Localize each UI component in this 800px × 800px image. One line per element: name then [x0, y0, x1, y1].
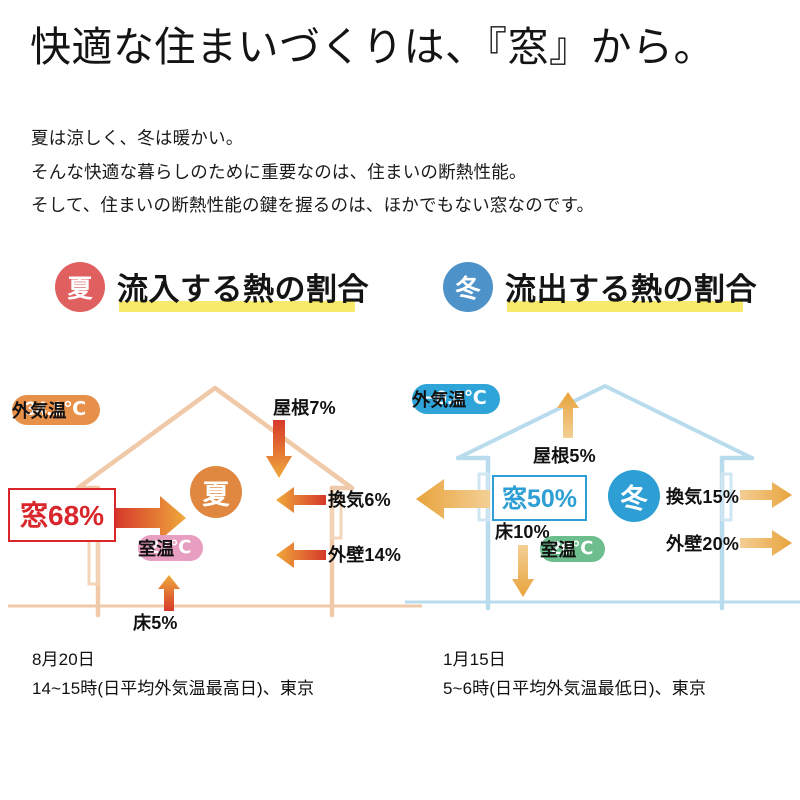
season-badge-winter: 冬 [443, 262, 493, 312]
section-header-winter: 冬 流出する熱の割合 [443, 262, 757, 312]
arrow-outer-wall-summer [276, 542, 326, 568]
section-header-summer: 夏 流入する熱の割合 [55, 262, 369, 312]
season-mark-winter: 冬 [608, 470, 660, 522]
indoor-temp-label-winter: 室温 [540, 536, 576, 562]
arrow-floor-summer [158, 575, 180, 611]
intro-line-1: 夏は涼しく、冬は暖かい。 [31, 122, 594, 156]
key-value-window-winter: 窓50% [492, 475, 587, 521]
label-ventilation-winter: 換気15% [666, 483, 739, 509]
caption-winter: 1月15日 5~6時(日平均外気温最低日)、東京 [443, 645, 706, 703]
season-mark-summer: 夏 [190, 466, 242, 518]
intro-line-3: そして、住まいの断熱性能の鍵を握るのは、ほかでもない窓なのです。 [31, 189, 594, 223]
diagram-summer: 外気温 34.1℃ 屋根7% 夏 窓68% 換気6 [0, 370, 410, 620]
infographic-page: 快適な住まいづくりは、『窓』から。 夏は涼しく、冬は暖かい。 そんな快適な暮らし… [0, 0, 800, 800]
label-outer-wall-winter: 外壁20% [666, 530, 739, 556]
outdoor-temp-label-summer: 外気温 [12, 397, 67, 423]
arrow-ventilation-winter [740, 482, 792, 508]
intro-line-2: そんな快適な暮らしのために重要なのは、住まいの断熱性能。 [31, 156, 594, 190]
section-title-summer: 流入する熱の割合 [117, 264, 369, 311]
label-roof-summer: 屋根7% [273, 394, 336, 420]
indoor-temp-summer: 室温 27℃ [138, 535, 203, 561]
label-ventilation-summer: 換気6% [328, 486, 391, 512]
caption-winter-date: 1月15日 [443, 645, 706, 674]
intro-paragraph: 夏は涼しく、冬は暖かい。 そんな快適な暮らしのために重要なのは、住まいの断熱性能… [31, 122, 594, 223]
caption-summer-detail: 14~15時(日平均外気温最高日)、東京 [32, 674, 314, 703]
caption-summer: 8月20日 14~15時(日平均外気温最高日)、東京 [32, 645, 314, 703]
arrow-floor-winter [512, 545, 534, 597]
season-badge-summer: 夏 [55, 262, 105, 312]
label-roof-winter: 屋根5% [533, 442, 596, 468]
arrow-outer-wall-winter [740, 530, 792, 556]
indoor-temp-winter: 室温 20℃ [540, 536, 605, 562]
indoor-temp-label-summer: 室温 [138, 535, 174, 561]
label-outer-wall-summer: 外壁14% [328, 541, 401, 567]
label-floor-summer: 床5% [133, 609, 178, 635]
arrow-window-summer [116, 496, 186, 540]
outdoor-temp-label-winter: 外気温 [412, 386, 467, 412]
arrow-roof-summer [266, 420, 292, 480]
diagram-winter: 外気温 −0.8℃ 屋根5% 窓50% 冬 換気1 [400, 370, 800, 620]
arrow-ventilation-summer [276, 487, 326, 513]
outdoor-temp-summer: 外気温 34.1℃ [12, 395, 100, 425]
key-value-window-summer: 窓68% [8, 488, 116, 542]
arrow-window-winter [416, 479, 490, 519]
caption-winter-detail: 5~6時(日平均外気温最低日)、東京 [443, 674, 706, 703]
arrow-roof-winter [557, 392, 579, 438]
caption-summer-date: 8月20日 [32, 645, 314, 674]
outdoor-temp-winter: 外気温 −0.8℃ [412, 384, 500, 414]
section-title-winter: 流出する熱の割合 [505, 264, 757, 311]
page-title: 快適な住まいづくりは、『窓』から。 [30, 22, 715, 72]
